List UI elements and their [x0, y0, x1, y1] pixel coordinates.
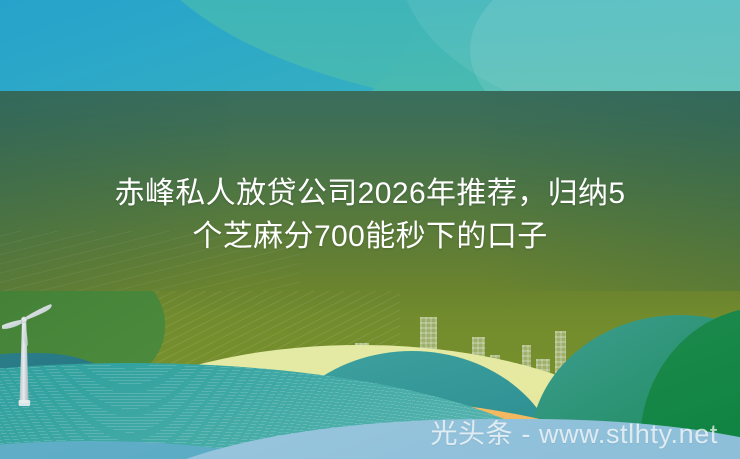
article-banner-image: 赤峰私人放贷公司2026年推荐，归纳5 个芝麻分700能秒下的口子: [0, 0, 740, 459]
wind-turbine-icon: [2, 299, 72, 407]
sky-gradient-band: [0, 0, 740, 91]
page-title: 赤峰私人放贷公司2026年推荐，归纳5 个芝麻分700能秒下的口子: [0, 172, 740, 258]
site-watermark: 光头条 - www.stlhty.net: [430, 412, 718, 451]
